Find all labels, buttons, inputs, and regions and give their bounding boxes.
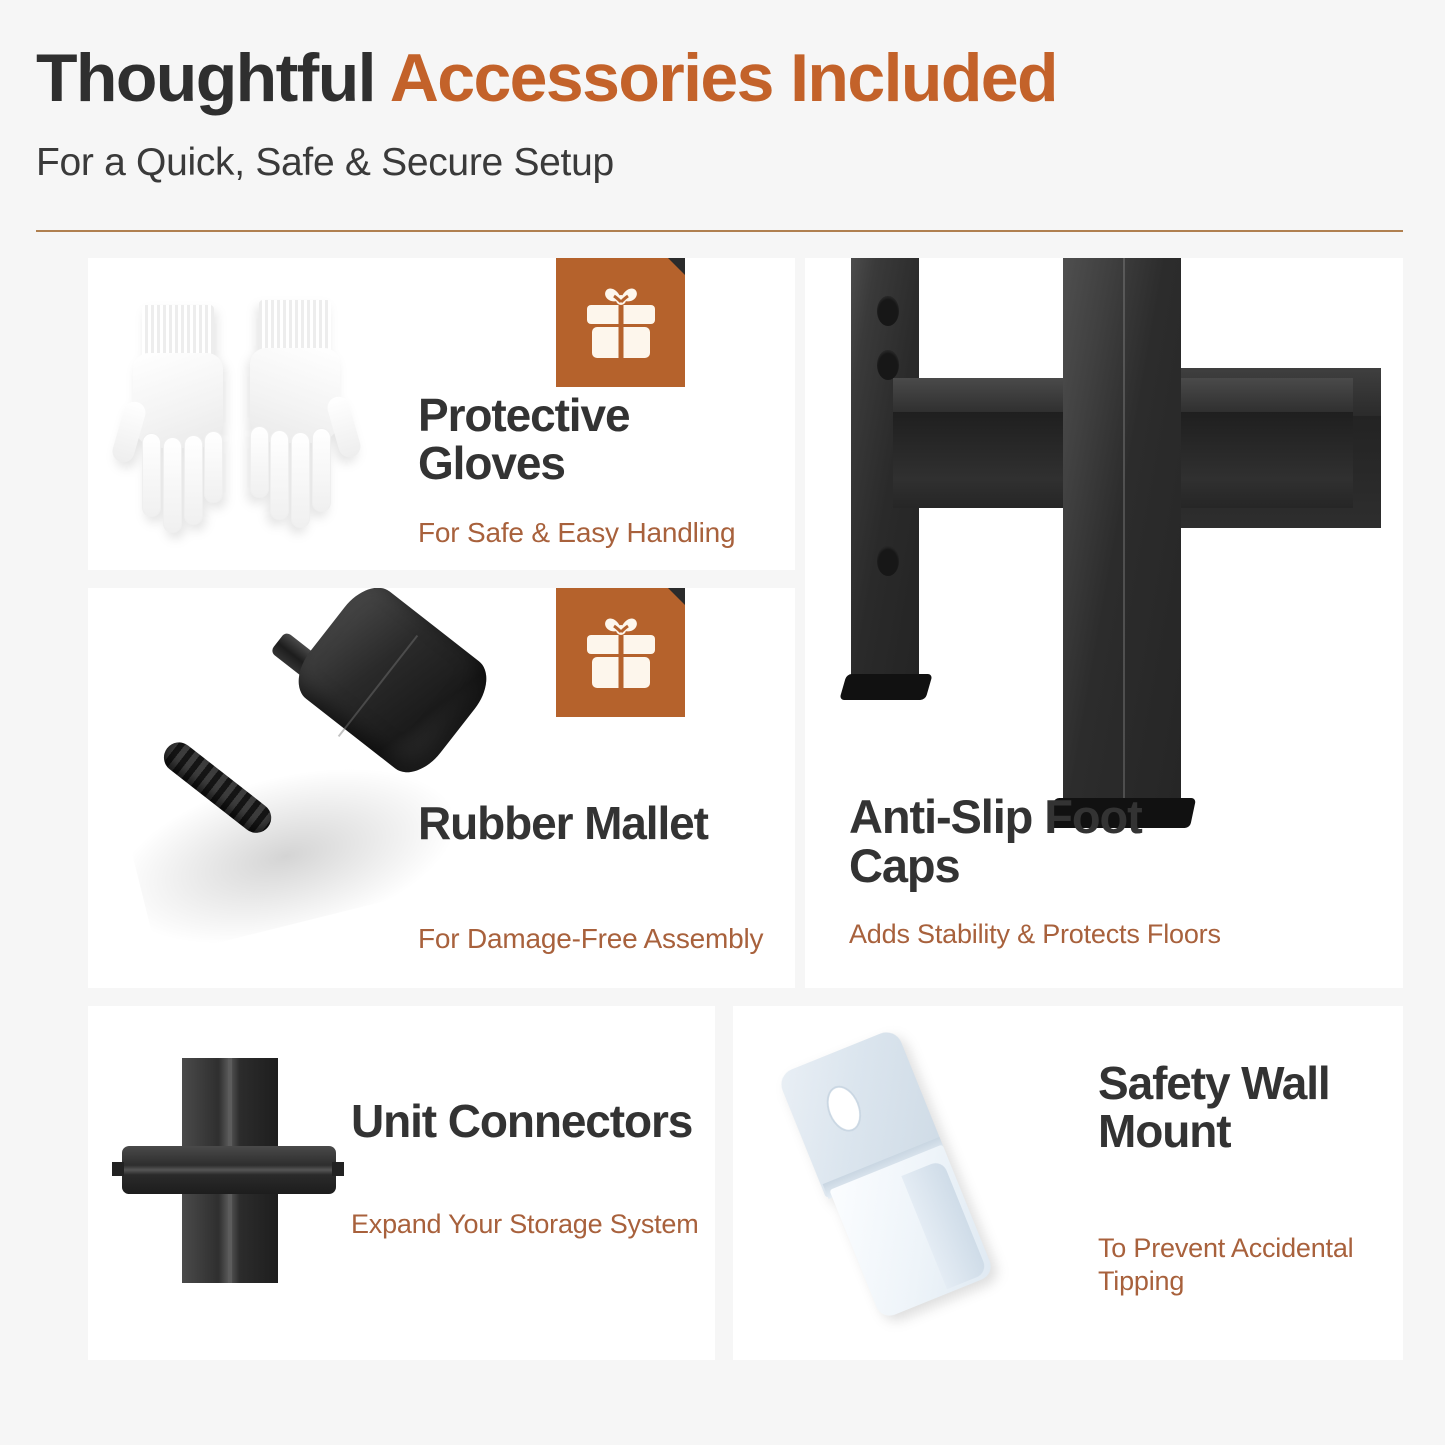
connector-tab-left [112,1162,124,1176]
card-caption-wall-mount: To Prevent Accidental Tipping [1098,1232,1358,1298]
post-hole [877,546,899,576]
glove-finger [204,431,223,503]
gift-badge-gloves [556,258,685,387]
mallet-head [286,588,500,784]
glove-finger [312,428,331,512]
card-title-wall-mount: Safety Wall Mount [1098,1060,1388,1156]
gloves-image [110,290,420,555]
connector-horizontal-arm [122,1146,336,1194]
badge-corner-fold [668,258,685,275]
glove-cuff [142,305,214,359]
glove-finger [291,432,310,528]
card-title-connectors: Unit Connectors [351,1098,711,1146]
card-caption-gloves: For Safe & Easy Handling [418,516,735,550]
page-title: Thoughtful Accessories Included [36,44,1057,112]
card-caption-connectors: Expand Your Storage System [351,1208,699,1241]
glove-cuff [259,300,331,354]
glove-left [120,305,235,540]
header-divider [36,230,1403,232]
wall-mount-image [773,1032,1063,1332]
card-caption-mallet: For Damage-Free Assembly [418,922,763,956]
card-title-foot-caps: Anti-Slip Foot Caps [849,793,1209,891]
page-title-accent: Accessories Included [390,40,1057,116]
badge-corner-fold [668,588,685,605]
card-title-gloves: Protective Gloves [418,392,748,488]
infographic-page: Thoughtful Accessories Included For a Qu… [0,0,1445,1445]
connector-tab-right [332,1162,344,1176]
foot-cap-back [839,674,932,700]
glove-finger [250,426,269,498]
gift-box-icon [578,608,664,694]
l-bracket [777,1028,994,1319]
page-title-dark: Thoughtful [36,40,390,116]
shelf-post-front [1063,258,1181,803]
post-hole [877,296,899,326]
glove-finger [142,433,161,517]
glove-finger [163,437,182,533]
glove-right [238,300,353,535]
post-edge-highlight [1123,258,1125,803]
foot-caps-image [833,258,1381,758]
card-unit-connectors [88,1006,715,1360]
unit-connector-image [112,1058,344,1283]
post-hole [877,350,899,380]
glove-finger [270,430,289,520]
gift-badge-mallet [556,588,685,717]
gift-box-icon [578,278,664,364]
card-caption-foot-caps: Adds Stability & Protects Floors [849,918,1221,951]
glove-finger [184,435,203,525]
mallet-image [115,600,535,955]
page-subtitle: For a Quick, Safe & Secure Setup [36,143,614,182]
card-title-mallet: Rubber Mallet [418,800,738,848]
